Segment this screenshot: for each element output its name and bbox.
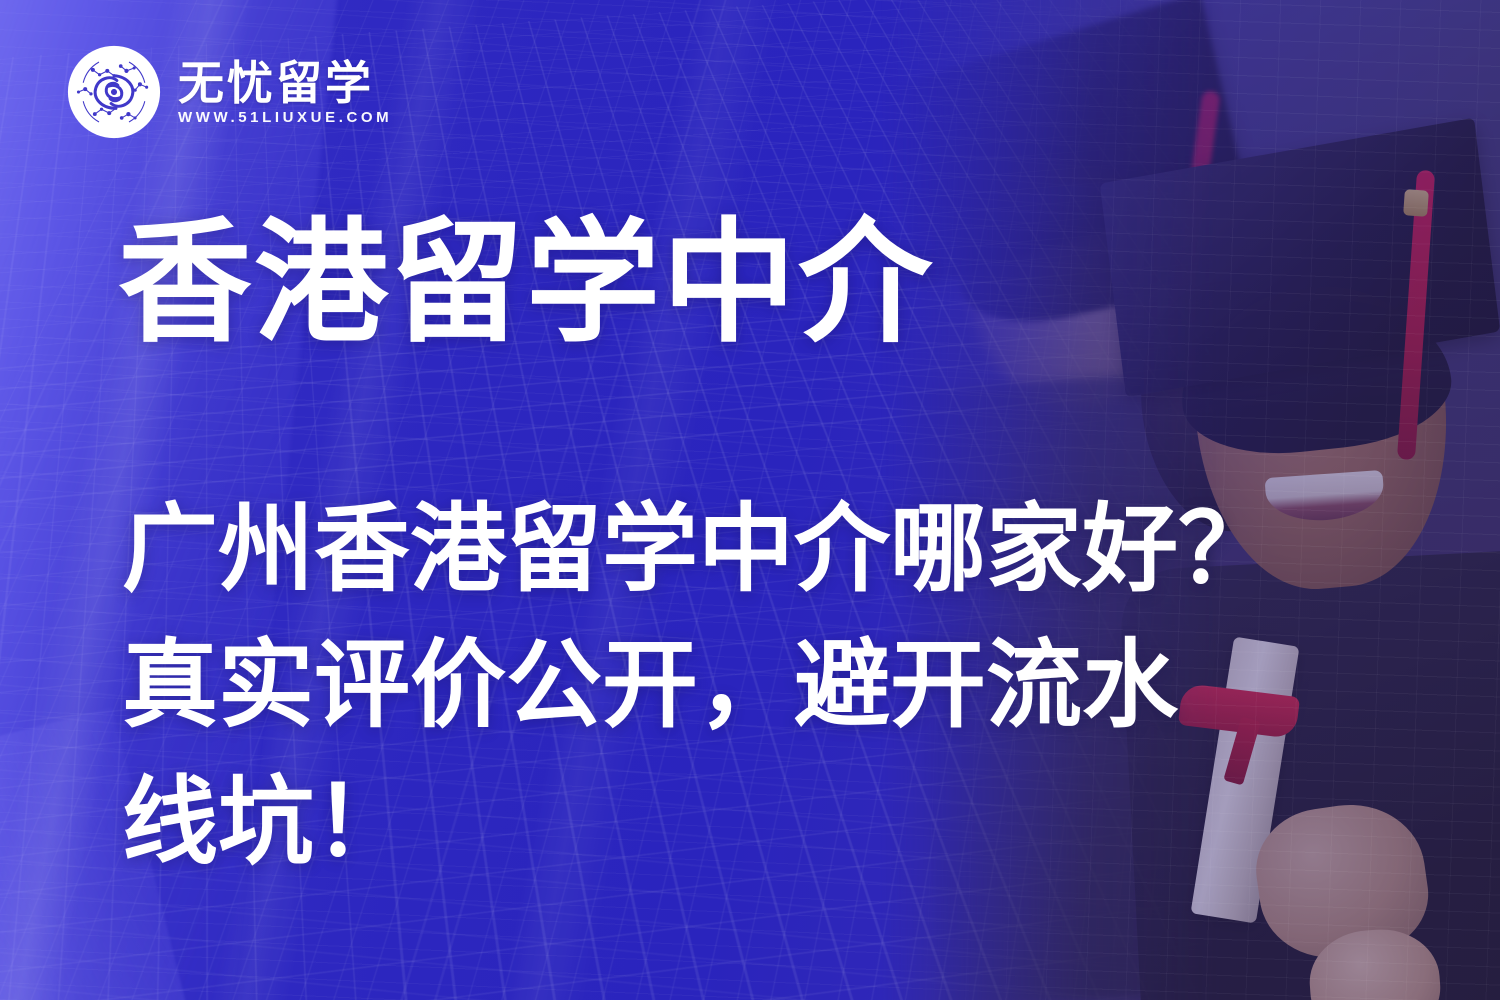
brand-name: 无忧留学	[178, 60, 392, 106]
brand-logo[interactable]: 无忧留学 WWW.51LIUXUE.COM	[66, 44, 392, 140]
subtitle-line-3: 线坑！	[122, 755, 1274, 891]
subtitle-line-1: 广州香港留学中介哪家好？	[122, 482, 1274, 618]
promo-banner: 无忧留学 WWW.51LIUXUE.COM 香港留学中介 广州香港留学中介哪家好…	[0, 0, 1500, 1000]
spiral-galaxy-emblem-icon	[66, 44, 162, 140]
subtitle: 广州香港留学中介哪家好？ 真实评价公开，避开流水 线坑！	[122, 482, 1274, 891]
subtitle-line-2: 真实评价公开，避开流水	[122, 618, 1274, 754]
brand-website: WWW.51LIUXUE.COM	[178, 110, 392, 125]
page-title: 香港留学中介	[118, 214, 934, 355]
brand-logo-text: 无忧留学 WWW.51LIUXUE.COM	[178, 60, 392, 125]
